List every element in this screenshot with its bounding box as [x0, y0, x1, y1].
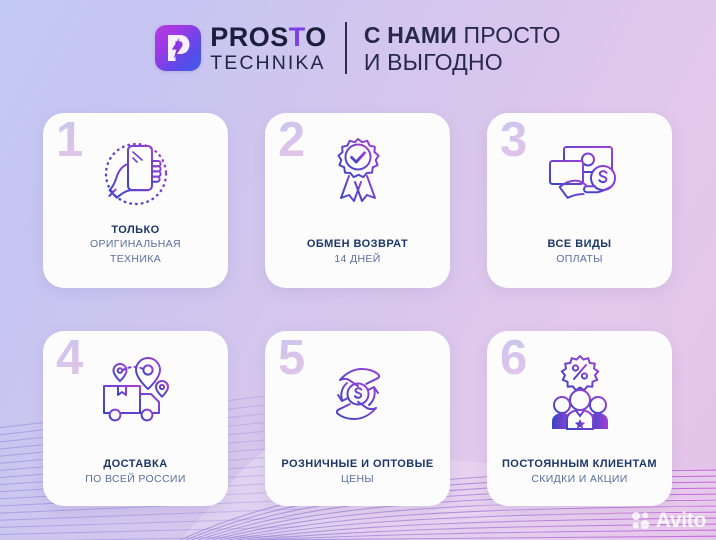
benefit-card-1[interactable]: 1 — [43, 113, 228, 288]
benefit-card-6-text: ПОСТОЯННЫМ КЛИЕНТАМ СКИДКИ И АКЦИИ — [493, 457, 666, 486]
benefit-card-3-title: ВСЕ ВИДЫ — [493, 237, 666, 251]
benefit-card-4-text: ДОСТАВКА ПО ВСЕЙ РОССИИ — [49, 457, 222, 486]
benefit-card-2[interactable]: 2 ОБМЕН ВОЗВРАТ — [265, 113, 450, 288]
hands-dollar-coin-arrows-icon — [312, 348, 404, 440]
benefit-card-5-text: РОЗНИЧНЫЕ И ОПТОВЫЕ ЦЕНЫ — [271, 457, 444, 486]
prosto-technika-logo-mark-icon — [155, 25, 201, 71]
benefit-card-6-title: ПОСТОЯННЫМ КЛИЕНТАМ — [493, 457, 666, 471]
brand-name-prosto-part2: O — [305, 22, 327, 52]
benefit-card-6-subtitle-line-1: СКИДКИ И АКЦИИ — [493, 473, 666, 486]
benefit-card-4-subtitle-line-1: ПО ВСЕЙ РОССИИ — [49, 473, 222, 486]
benefit-card-3-number: 3 — [500, 116, 527, 165]
brand-name-prosto-part1: PROS — [210, 22, 289, 52]
benefit-card-2-title: ОБМЕН ВОЗВРАТ — [271, 237, 444, 251]
benefit-card-6-number: 6 — [500, 334, 527, 383]
brand-name-prosto-accent: T — [289, 22, 306, 52]
benefit-card-2-subtitle-line-1: 14 ДНЕЙ — [271, 253, 444, 266]
avito-watermark: Avito — [630, 510, 706, 531]
benefit-card-2-text: ОБМЕН ВОЗВРАТ 14 ДНЕЙ — [271, 237, 444, 266]
avito-wordmark: Avito — [656, 510, 706, 531]
award-ribbon-check-icon — [312, 130, 404, 222]
banner-header: PROSTO TECHNIKA С НАМИ ПРОСТО И ВЫГОДНО — [0, 22, 716, 75]
hand-holding-phone-icon — [90, 130, 182, 222]
benefit-card-4[interactable]: 4 — [43, 331, 228, 506]
brand-name-prosto: PROSTO — [210, 24, 327, 51]
slogan-line-1-strong: С НАМИ — [364, 22, 457, 48]
brand-name-technika: TECHNIKA — [210, 54, 327, 74]
benefit-card-6[interactable]: 6 — [487, 331, 672, 506]
delivery-truck-map-pins-icon — [90, 348, 182, 440]
header-divider — [345, 22, 347, 74]
benefit-card-1-subtitle-line-1: ОРИГИНАЛЬНАЯ — [49, 238, 222, 251]
benefit-card-1-number: 1 — [56, 116, 83, 165]
benefit-card-3-subtitle-line-1: ОПЛАТЫ — [493, 253, 666, 266]
customers-group-percent-badge-icon — [534, 348, 626, 440]
brand-wordmark: PROSTO TECHNIKA — [210, 24, 327, 74]
slogan-line-1: С НАМИ ПРОСТО — [364, 23, 561, 47]
benefit-card-2-number: 2 — [278, 116, 305, 165]
benefit-card-5[interactable]: 5 — [265, 331, 450, 506]
benefit-card-3-text: ВСЕ ВИДЫ ОПЛАТЫ — [493, 237, 666, 266]
benefit-card-4-title: ДОСТАВКА — [49, 457, 222, 471]
benefit-card-5-subtitle-line-1: ЦЕНЫ — [271, 473, 444, 486]
benefit-card-5-title: РОЗНИЧНЫЕ И ОПТОВЫЕ — [271, 457, 444, 471]
benefit-card-5-number: 5 — [278, 334, 305, 383]
benefit-card-3[interactable]: 3 — [487, 113, 672, 288]
benefit-card-1-title: ТОЛЬКО — [49, 223, 222, 237]
banner-slogan: С НАМИ ПРОСТО И ВЫГОДНО — [364, 22, 561, 75]
hand-money-card-dollar-icon — [534, 130, 626, 222]
slogan-line-2: И ВЫГОДНО — [364, 50, 561, 74]
benefit-card-4-number: 4 — [56, 334, 83, 383]
slogan-line-1-light: ПРОСТО — [464, 22, 561, 48]
brand-logo: PROSTO TECHNIKA — [155, 24, 327, 74]
avito-dots-icon — [630, 510, 651, 531]
benefit-card-1-subtitle-line-2: ТЕХНИКА — [49, 253, 222, 266]
benefits-grid: 1 — [43, 113, 673, 506]
benefit-card-1-text: ТОЛЬКО ОРИГИНАЛЬНАЯ ТЕХНИКА — [49, 223, 222, 266]
promo-banner: PROSTO TECHNIKA С НАМИ ПРОСТО И ВЫГОДНО … — [0, 0, 716, 540]
